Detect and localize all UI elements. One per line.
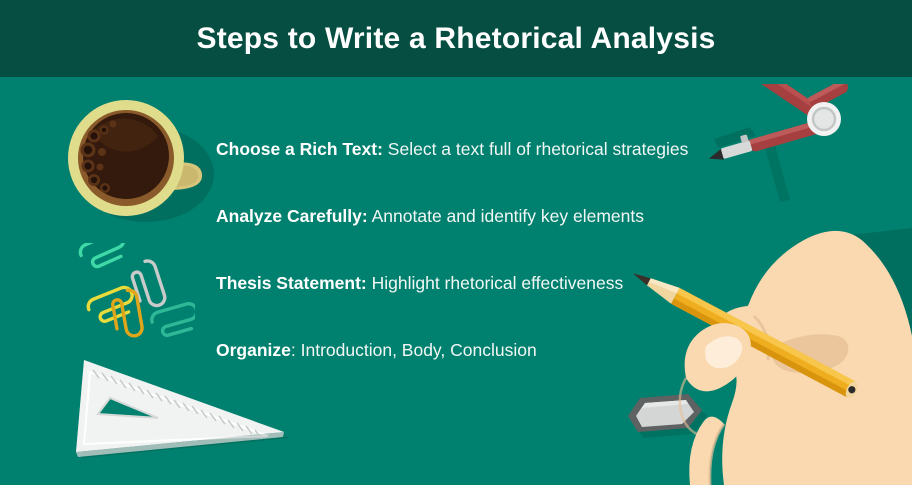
step-description: Highlight rhetorical effectiveness xyxy=(367,273,623,293)
list-item: Organize: Introduction, Body, Conclusion xyxy=(216,340,776,407)
step-term: Thesis Statement: xyxy=(216,273,367,293)
list-item: Choose a Rich Text: Select a text full o… xyxy=(216,139,776,206)
step-description: : Introduction, Body, Conclusion xyxy=(291,340,537,360)
infographic-poster: Steps to Write a Rhetorical Analysis xyxy=(0,0,912,485)
steps-list: Choose a Rich Text: Select a text full o… xyxy=(216,139,776,407)
list-item: Thesis Statement: Highlight rhetorical e… xyxy=(216,273,776,340)
step-term: Choose a Rich Text: xyxy=(216,139,383,159)
list-item: Analyze Carefully: Annotate and identify… xyxy=(216,206,776,273)
step-term: Organize xyxy=(216,340,291,360)
step-description: Select a text full of rhetorical strateg… xyxy=(383,139,688,159)
coffee-mug-icon xyxy=(58,96,218,226)
step-text: Analyze Carefully: Annotate and identify… xyxy=(216,206,644,228)
paper-clips-icon xyxy=(70,243,195,338)
step-text: Thesis Statement: Highlight rhetorical e… xyxy=(216,273,623,295)
header-band: Steps to Write a Rhetorical Analysis xyxy=(0,0,912,77)
step-description: Annotate and identify key elements xyxy=(368,206,644,226)
step-term: Analyze Carefully: xyxy=(216,206,368,226)
step-text: Organize: Introduction, Body, Conclusion xyxy=(216,340,537,362)
page-title: Steps to Write a Rhetorical Analysis xyxy=(196,24,715,54)
step-text: Choose a Rich Text: Select a text full o… xyxy=(216,139,688,161)
